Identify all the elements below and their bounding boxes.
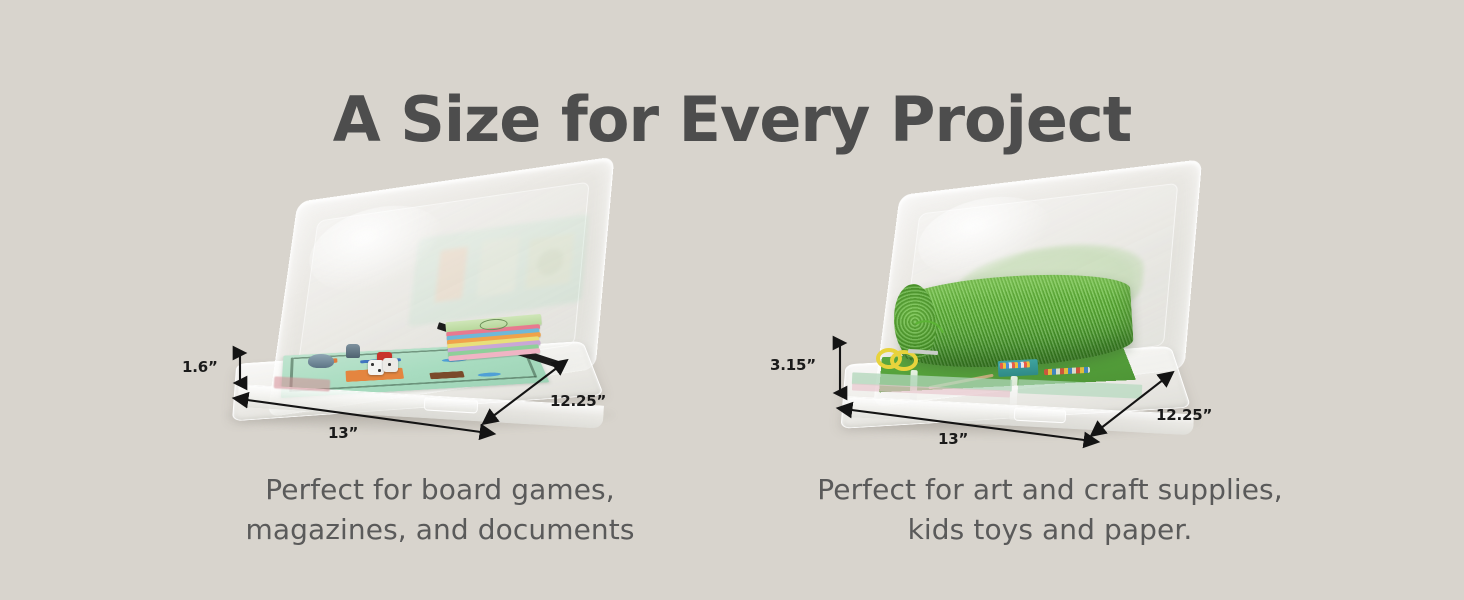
- product-panel-deep-case: 3.15” 13”: [760, 170, 1340, 570]
- product-caption-deep-case: Perfect for art and craft supplies, kids…: [760, 470, 1340, 550]
- dice-white-2: [383, 358, 398, 372]
- game-token-hat: [346, 344, 360, 358]
- product-caption-shallow-case: Perfect for board games, magazines, and …: [150, 470, 730, 550]
- dimension-depth-arrow-right: [1088, 368, 1176, 440]
- dimension-width-arrow-left: [234, 392, 494, 440]
- caption-line-1: Perfect for art and craft supplies,: [760, 470, 1340, 510]
- game-token-ship: [308, 354, 334, 368]
- product-image-shallow-case: 1.6” 13”: [150, 170, 730, 460]
- craft-bead-box: [998, 359, 1039, 377]
- product-image-deep-case: 3.15” 13”: [760, 170, 1340, 460]
- dimension-height-arrow-right: [830, 338, 850, 398]
- dimension-height-arrow-left: [230, 348, 250, 388]
- dimension-width-arrow-right: [838, 402, 1098, 448]
- product-panel-shallow-case: 1.6” 13”: [150, 170, 730, 570]
- dice-white-1: [368, 360, 384, 375]
- caption-line-2: kids toys and paper.: [760, 510, 1340, 550]
- caption-line-2: magazines, and documents: [150, 510, 730, 550]
- dimension-height-label-left: 1.6”: [182, 358, 218, 376]
- infographic-stage: A Size for Every Project: [0, 0, 1464, 600]
- page-title: A Size for Every Project: [0, 83, 1464, 156]
- dimension-depth-arrow-left: [480, 356, 570, 428]
- dimension-height-label-right: 3.15”: [770, 356, 816, 374]
- caption-line-1: Perfect for board games,: [150, 470, 730, 510]
